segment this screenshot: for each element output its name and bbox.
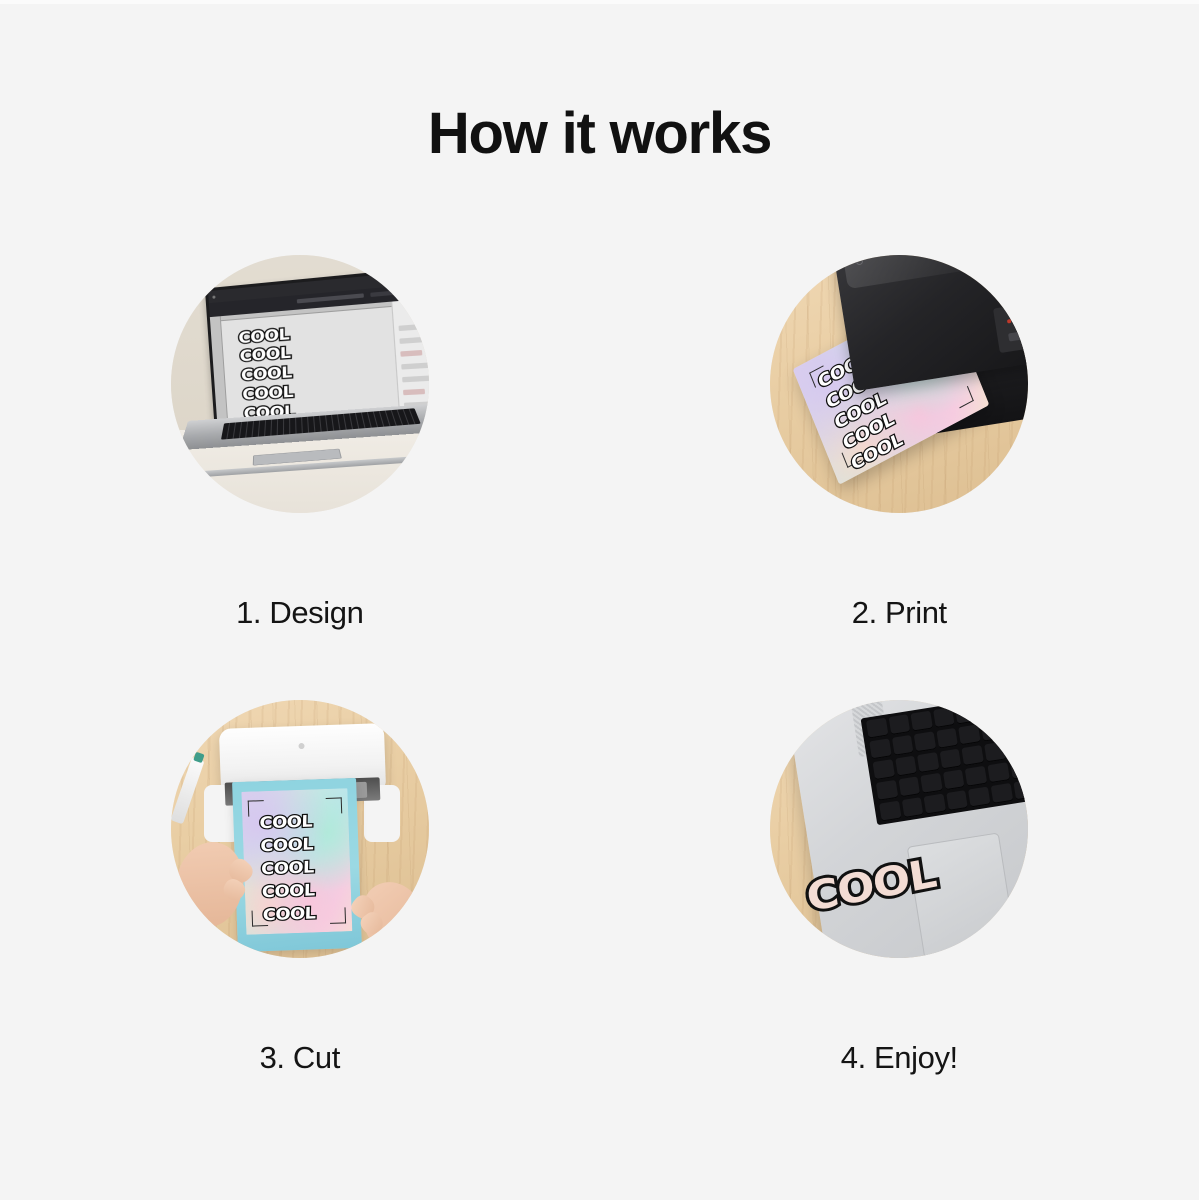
- artboard: COOL COOL COOL COOL COOL: [220, 301, 399, 423]
- key: [1003, 718, 1025, 739]
- key: [936, 728, 958, 749]
- key: [873, 760, 895, 781]
- sticker-text: COOL: [261, 858, 314, 878]
- key: [892, 735, 914, 756]
- printer-control-panel[interactable]: [993, 298, 1028, 353]
- sticker-text: COOL: [242, 383, 293, 403]
- panel-row: [403, 375, 429, 382]
- step-3-cut[interactable]: COOL COOL COOL COOL COOL: [0, 700, 600, 1145]
- key: [1000, 700, 1022, 718]
- sticker-text: COOL: [239, 345, 290, 366]
- step-1-image: COOL COOL COOL COOL COOL: [171, 255, 429, 513]
- menubar-dot-icon: [213, 295, 216, 298]
- print-scene: COOL COOL COOL COOL COOL: [770, 255, 1028, 513]
- key: [991, 783, 1013, 804]
- printer-button[interactable]: [1008, 332, 1021, 342]
- laptop-screen: COOL COOL COOL COOL COOL: [205, 266, 429, 427]
- panel-row: [403, 388, 425, 395]
- sticker-text: COOL: [260, 835, 313, 855]
- key: [876, 780, 898, 801]
- cutting-mat: COOL COOL COOL COOL COOL: [232, 778, 362, 952]
- toolbar-actions: [370, 288, 421, 297]
- key: [965, 766, 987, 787]
- key: [914, 732, 936, 753]
- document-title-bar: [297, 293, 364, 303]
- panel-row: [399, 323, 427, 330]
- enjoy-scene: COOL: [770, 700, 1028, 958]
- sticker-text: COOL: [262, 881, 315, 901]
- step-1-label: 1. Design: [0, 595, 600, 631]
- key: [889, 715, 911, 736]
- step-3-image: COOL COOL COOL COOL COOL: [171, 700, 429, 958]
- key: [946, 790, 968, 811]
- panel-row: [400, 336, 428, 343]
- registration-mark-icon: [330, 907, 347, 924]
- step-4-image: COOL: [770, 700, 1028, 958]
- key: [978, 700, 1000, 721]
- key: [917, 752, 939, 773]
- step-1-design[interactable]: COOL COOL COOL COOL COOL: [0, 255, 600, 700]
- sticker-text: COOL: [241, 364, 292, 384]
- key: [879, 801, 901, 822]
- key: [1007, 738, 1029, 759]
- key: [924, 794, 946, 815]
- step-3-label: 3. Cut: [0, 1040, 600, 1076]
- key: [984, 742, 1006, 763]
- status-led-icon: [1019, 318, 1024, 323]
- key: [898, 777, 920, 798]
- keyboard-keys: [866, 700, 1028, 822]
- key: [866, 718, 888, 739]
- key: [969, 787, 991, 808]
- panel-row: [402, 362, 429, 369]
- sticker-design-stack: COOL COOL COOL COOL COOL: [238, 326, 290, 422]
- key: [959, 725, 981, 746]
- step-2-print[interactable]: COOL COOL COOL COOL COOL: [600, 255, 1199, 700]
- key: [940, 749, 962, 770]
- panel-row: [401, 350, 423, 357]
- key: [988, 763, 1010, 784]
- key: [981, 721, 1003, 742]
- key: [1013, 780, 1028, 801]
- status-led-icon: [1008, 319, 1013, 324]
- key: [962, 745, 984, 766]
- step-2-image: COOL COOL COOL COOL COOL: [770, 255, 1028, 513]
- steps-grid: COOL COOL COOL COOL COOL: [0, 255, 1199, 1145]
- step-4-enjoy[interactable]: COOL 4. Enjoy!: [600, 700, 1199, 1145]
- app-canvas-area: COOL COOL COOL COOL COOL: [210, 298, 429, 424]
- key: [911, 711, 933, 732]
- printer-highlight: [843, 255, 1010, 289]
- key: [956, 704, 978, 725]
- registration-mark-icon: [326, 797, 343, 814]
- key: [895, 756, 917, 777]
- laptop: COOL COOL COOL COOL COOL: [179, 272, 429, 501]
- sticker-sheet-stack: COOL COOL COOL COOL COOL: [259, 813, 310, 924]
- cut-scene: COOL COOL COOL COOL COOL: [171, 700, 429, 958]
- key: [870, 739, 892, 760]
- step-2-label: 2. Print: [600, 595, 1199, 631]
- step-4-label: 4. Enjoy!: [600, 1040, 1199, 1076]
- machine-led-icon: [298, 743, 304, 749]
- key: [933, 708, 955, 729]
- sticker-sheet-on-mat: COOL COOL COOL COOL COOL: [241, 788, 352, 935]
- top-edge-strip: [0, 0, 1199, 4]
- sticker-text: COOL: [262, 904, 315, 924]
- sticker-text: COOL: [259, 812, 312, 832]
- key: [943, 770, 965, 791]
- design-scene: COOL COOL COOL COOL COOL: [171, 255, 429, 513]
- page-title: How it works: [0, 100, 1199, 167]
- key: [902, 797, 924, 818]
- key: [921, 773, 943, 794]
- key: [1010, 759, 1028, 780]
